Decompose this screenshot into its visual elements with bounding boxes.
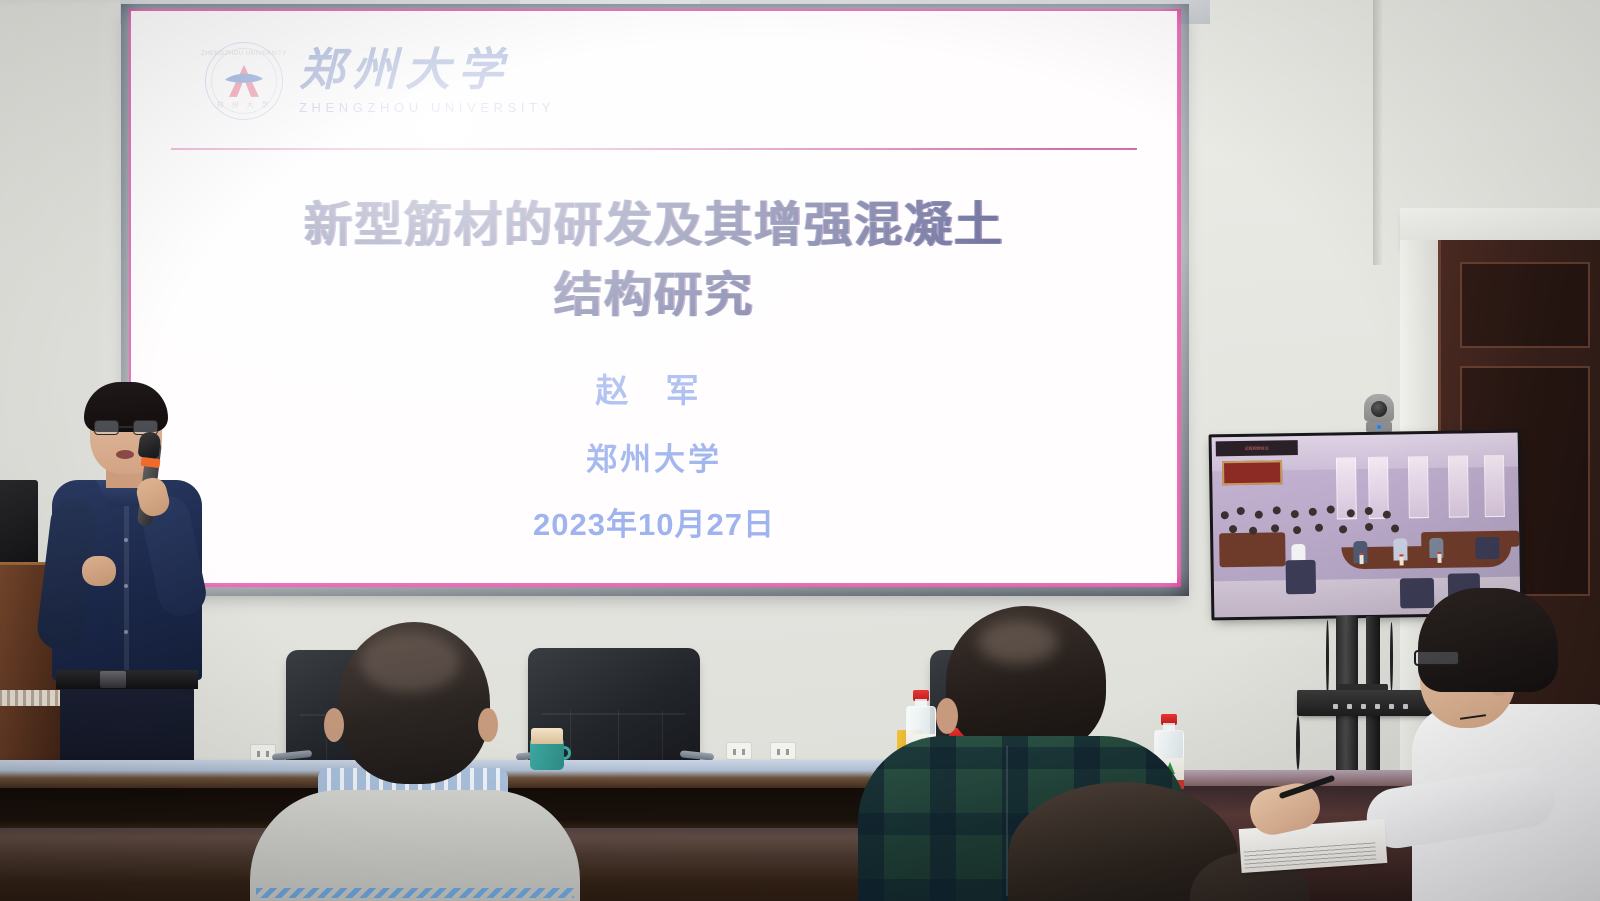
presenter-left-hand <box>82 556 116 586</box>
audience-right-writing <box>1392 588 1600 901</box>
ptz-camera-icon <box>1362 392 1396 432</box>
presenter <box>38 388 214 788</box>
tv-wall-plaque <box>1222 460 1282 485</box>
presenter-belt <box>56 670 198 689</box>
eyeglasses-icon <box>1414 650 1484 666</box>
tv-audience-rows <box>1215 496 1416 539</box>
audience-hair <box>1418 588 1558 692</box>
projection-screen: ZHENGZHOU UNIVERSITY 郑 州 大 学 郑州大学 ZHENGZ… <box>131 11 1177 583</box>
wall-corner-shadow <box>1373 0 1383 265</box>
door-pane-upper <box>1460 262 1590 348</box>
audience-front-left <box>250 622 580 901</box>
wall-outlet-center <box>726 742 752 760</box>
wall-outlet-center-2 <box>770 742 796 760</box>
conference-room-photo: ZHENGZHOU UNIVERSITY 郑 州 大 学 郑州大学 ZHENGZ… <box>0 0 1600 901</box>
tv-banner-text: 远程视频会议 <box>1216 440 1298 456</box>
belt-buckle <box>100 671 126 688</box>
screen-glare <box>131 11 1177 583</box>
av-cable <box>1326 620 1329 696</box>
grey-knit-sweater <box>250 790 580 901</box>
podium-monitor <box>0 480 38 572</box>
av-cable-hanging <box>1296 716 1300 770</box>
